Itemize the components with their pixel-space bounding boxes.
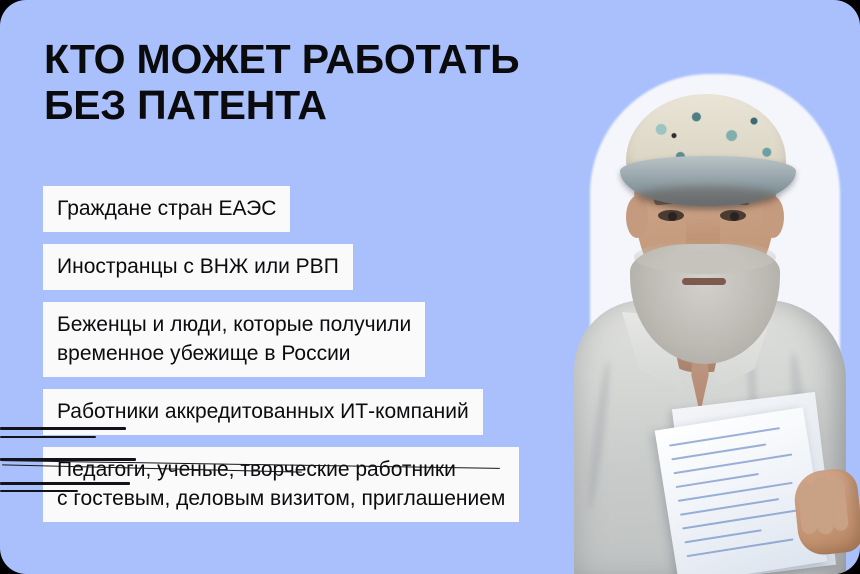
decorative-streak <box>0 427 126 430</box>
cap-brim-shadow <box>636 186 778 208</box>
decorative-streak <box>0 436 96 438</box>
list-item: Беженцы и люди, которые получили временн… <box>43 302 425 377</box>
list-item: Иностранцы с ВНЖ или РВП <box>43 244 353 290</box>
decorative-streak <box>0 490 78 492</box>
hand <box>792 467 860 557</box>
pupil-right <box>730 212 739 221</box>
decorative-streak <box>0 482 130 485</box>
person-photo <box>560 0 860 574</box>
person-cutout <box>560 0 860 574</box>
list-item: Граждане стран ЕАЭС <box>43 186 290 232</box>
pupil-left <box>668 212 677 221</box>
moustache <box>664 250 744 274</box>
infographic-card: КТО МОЖЕТ РАБОТАТЬ БЕЗ ПАТЕНТА Граждане … <box>0 0 860 574</box>
mouth <box>682 278 726 285</box>
page-title: КТО МОЖЕТ РАБОТАТЬ БЕЗ ПАТЕНТА <box>44 36 519 128</box>
